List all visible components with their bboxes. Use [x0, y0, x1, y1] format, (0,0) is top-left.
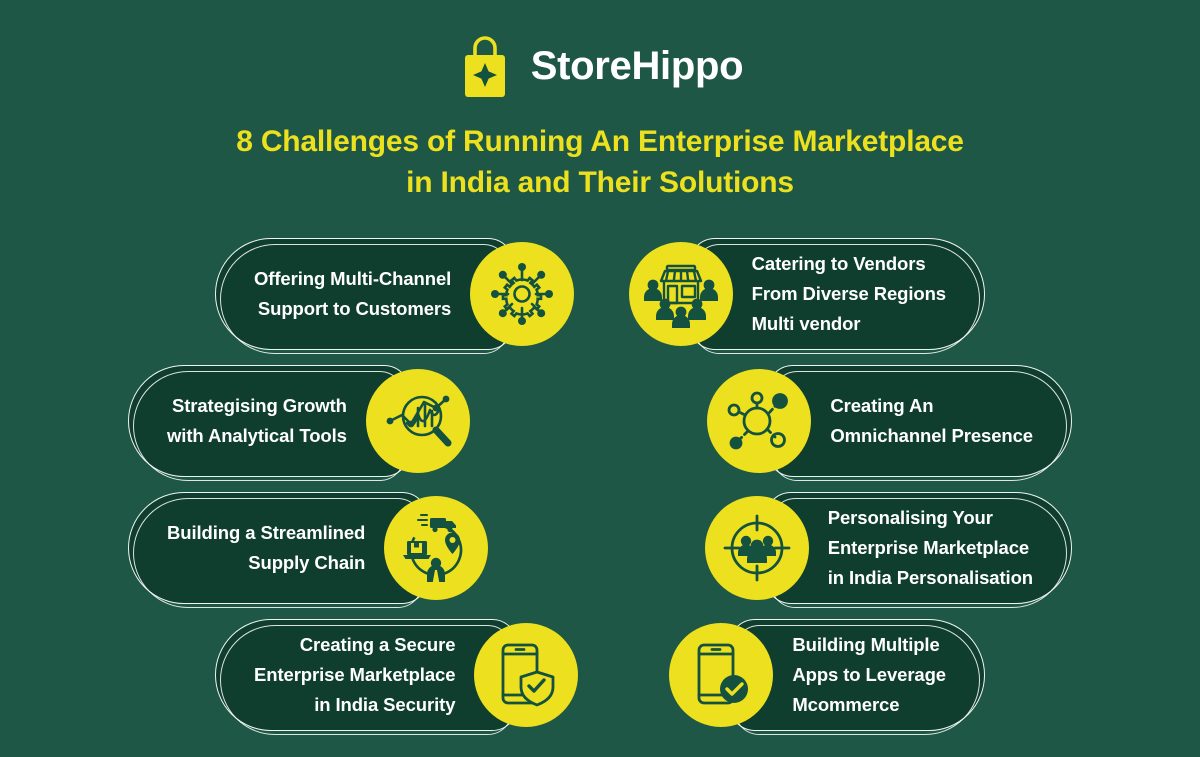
- page-title: 8 Challenges of Running An Enterprise Ma…: [100, 122, 1100, 203]
- title-line-1: 8 Challenges of Running An Enterprise Ma…: [100, 122, 1100, 163]
- shopping-bag-sparkle-icon: [457, 33, 513, 99]
- challenge-label: Offering Multi-Channel Support to Custom…: [254, 264, 451, 324]
- challenge-label: Building Multiple Apps to Leverage Mcomm…: [792, 630, 946, 720]
- mobile-shield-check-icon: [474, 623, 578, 727]
- challenge-item-secure-marketplace[interactable]: Creating a Secure Enterprise Marketplace…: [215, 619, 578, 731]
- challenge-label: Strategising Growth with Analytical Tool…: [167, 391, 347, 451]
- storefront-vendors-icon: [629, 242, 733, 346]
- analytics-magnifier-icon: [366, 369, 470, 473]
- challenge-label: Creating a Secure Enterprise Marketplace…: [254, 630, 455, 720]
- infographic-canvas: StoreHippo 8 Challenges of Running An En…: [0, 0, 1200, 757]
- mobile-check-icon: [669, 623, 773, 727]
- challenge-label: Catering to Vendors From Diverse Regions…: [752, 249, 946, 339]
- challenge-label: Creating An Omnichannel Presence: [830, 391, 1033, 451]
- supply-chain-cycle-icon: [384, 496, 488, 600]
- challenge-item-diverse-vendors[interactable]: Catering to Vendors From Diverse Regions…: [629, 238, 985, 350]
- challenge-item-multi-channel-support[interactable]: Offering Multi-Channel Support to Custom…: [215, 238, 574, 350]
- challenge-item-analytical-tools[interactable]: Strategising Growth with Analytical Tool…: [128, 365, 470, 477]
- challenge-pill[interactable]: Catering to Vendors From Diverse Regions…: [689, 238, 985, 350]
- challenge-item-personalisation[interactable]: Personalising Your Enterprise Marketplac…: [705, 492, 1072, 604]
- challenge-pill[interactable]: Personalising Your Enterprise Marketplac…: [765, 492, 1072, 604]
- challenge-label: Personalising Your Enterprise Marketplac…: [828, 503, 1033, 593]
- challenge-label: Building a Streamlined Supply Chain: [167, 518, 365, 578]
- target-audience-icon: [705, 496, 809, 600]
- challenge-pill[interactable]: Building a Streamlined Supply Chain: [128, 492, 428, 604]
- brand-header: StoreHippo: [0, 28, 1200, 104]
- title-line-2: in India and Their Solutions: [100, 163, 1100, 204]
- challenge-item-supply-chain[interactable]: Building a Streamlined Supply Chain: [128, 492, 488, 604]
- multi-channel-hub-icon: [470, 242, 574, 346]
- challenges-list: Offering Multi-Channel Support to Custom…: [0, 238, 1200, 748]
- brand-name: StoreHippo: [531, 46, 744, 86]
- network-nodes-icon: [707, 369, 811, 473]
- challenge-item-mcommerce-apps[interactable]: Building Multiple Apps to Leverage Mcomm…: [669, 619, 985, 731]
- challenge-pill[interactable]: Creating a Secure Enterprise Marketplace…: [215, 619, 518, 731]
- challenge-pill[interactable]: Creating An Omnichannel Presence: [767, 365, 1072, 477]
- challenge-item-omnichannel-presence[interactable]: Creating An Omnichannel Presence: [707, 365, 1072, 477]
